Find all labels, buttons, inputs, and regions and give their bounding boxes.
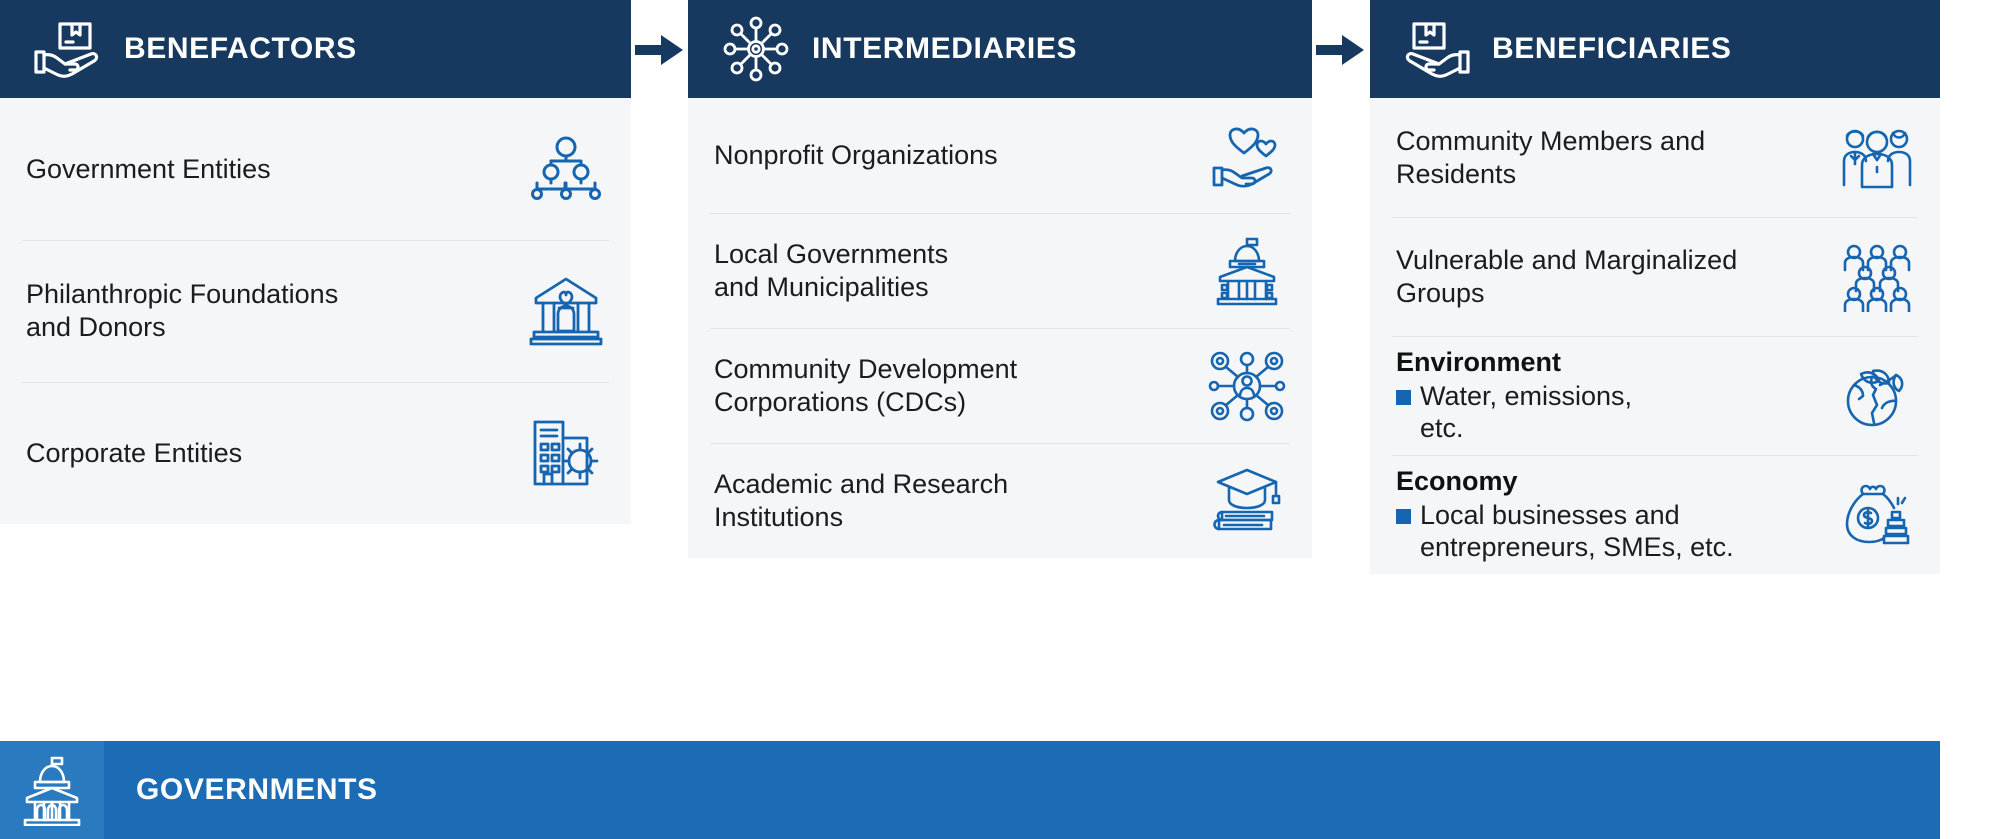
list-item-label: Government Entities [26,153,271,186]
list-item-label: Community Members andResidents [1396,125,1705,191]
list-item-heading: Economy [1396,466,1734,497]
list-item-label: Corporate Entities [26,437,242,470]
governments-bar[interactable]: GOVERNMENTS [0,741,1940,839]
column-header-benefactors: BENEFACTORS [0,0,631,98]
list-item[interactable]: Community Members andResidents [1370,98,1940,217]
list-item-label: Academic and ResearchInstitutions [714,468,1008,534]
graduation-cap-books-icon [1194,464,1286,538]
bullet-label: Water, emissions,etc. [1420,380,1632,445]
column-benefactors: BENEFACTORS Government Entities [0,0,631,524]
bank-heart-building-icon [513,272,605,350]
arrow-intermediaries-to-beneficiaries [1316,30,1366,70]
diagram-canvas: BENEFACTORS Government Entities [0,0,2000,839]
square-bullet-icon [1396,509,1411,524]
column-header-intermediaries: INTERMEDIARIES [688,0,1312,98]
governments-bar-title: GOVERNMENTS [136,773,378,807]
bullet-item: Local businesses andentrepreneurs, SMEs,… [1396,499,1734,564]
list-item[interactable]: Vulnerable and MarginalizedGroups [1370,217,1940,336]
network-nodes-icon [710,14,802,84]
list-item[interactable]: Economy Local businesses andentrepreneur… [1370,455,1940,574]
list-item-label: Vulnerable and MarginalizedGroups [1396,244,1737,310]
list-item[interactable]: Environment Water, emissions,etc. [1370,336,1940,455]
hand-holding-box-icon [22,14,114,84]
list-item[interactable]: Government Entities [0,98,631,240]
column-body-beneficiaries: Community Members andResidents Vu [1370,98,1940,574]
column-beneficiaries: BENEFICIARIES Community Members andResid… [1370,0,1940,574]
office-building-gear-icon [513,414,605,492]
list-item-heading: Environment [1396,347,1632,378]
three-people-icon [1822,123,1914,193]
list-item-label: Nonprofit Organizations [714,139,998,172]
list-item[interactable]: Philanthropic Foundationsand Donors [0,240,631,382]
bullet-item: Water, emissions,etc. [1396,380,1632,445]
government-capitol-icon [0,741,104,839]
bullet-label: Local businesses andentrepreneurs, SMEs,… [1420,499,1734,564]
list-item[interactable]: Academic and ResearchInstitutions [688,443,1312,558]
list-item-group: Environment Water, emissions,etc. [1396,347,1632,445]
government-capitol-icon [1194,235,1286,307]
hand-holding-box-icon [1390,14,1482,84]
column-title: BENEFICIARIES [1492,32,1732,66]
list-item-group: Economy Local businesses andentrepreneur… [1396,466,1734,564]
list-item[interactable]: Corporate Entities [0,382,631,524]
column-intermediaries: INTERMEDIARIES Nonprofit Organizations L… [688,0,1312,558]
arrow-benefactors-to-intermediaries [635,30,685,70]
list-item-label: Philanthropic Foundationsand Donors [26,278,338,344]
list-item[interactable]: Local Governmentsand Municipalities [688,213,1312,328]
globe-leaves-icon [1822,359,1914,433]
money-bag-coins-icon [1822,478,1914,552]
column-title: BENEFACTORS [124,32,357,66]
column-header-beneficiaries: BENEFICIARIES [1370,0,1940,98]
list-item-label: Local Governmentsand Municipalities [714,238,948,304]
column-body-intermediaries: Nonprofit Organizations Local Government… [688,98,1312,558]
org-chart-hierarchy-icon [513,130,605,208]
square-bullet-icon [1396,390,1411,405]
column-title: INTERMEDIARIES [812,32,1077,66]
list-item[interactable]: Nonprofit Organizations [688,98,1312,213]
list-item-label: Community DevelopmentCorporations (CDCs) [714,353,1017,419]
hand-holding-hearts-icon [1194,120,1286,192]
crowd-group-icon [1822,242,1914,312]
list-item[interactable]: Community DevelopmentCorporations (CDCs) [688,328,1312,443]
column-body-benefactors: Government Entities [0,98,631,524]
people-network-icon [1194,349,1286,423]
